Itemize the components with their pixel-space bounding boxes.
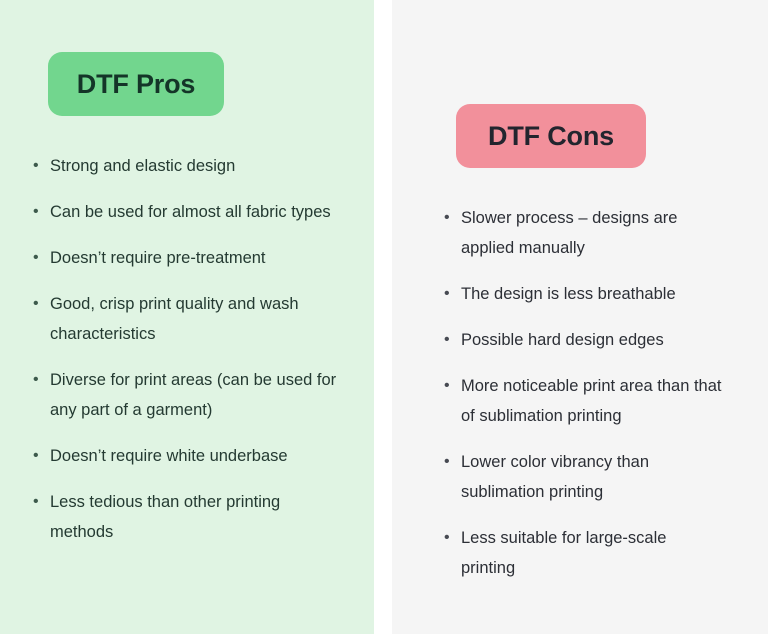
- pros-badge: DTF Pros: [48, 52, 224, 116]
- bullet-icon: •: [33, 441, 50, 471]
- list-item-label: Good, crisp print quality and wash chara…: [50, 289, 343, 349]
- bullet-icon: •: [33, 243, 50, 273]
- panel-divider: [374, 0, 392, 634]
- list-item: • Doesn’t require white underbase: [33, 441, 343, 471]
- bullet-icon: •: [33, 487, 50, 517]
- list-item-label: Possible hard design edges: [461, 325, 724, 355]
- list-item-label: Less suitable for large-scale printing: [461, 523, 724, 583]
- list-item: • Can be used for almost all fabric type…: [33, 197, 343, 227]
- pros-panel: DTF Pros • Strong and elastic design • C…: [0, 0, 374, 634]
- bullet-icon: •: [444, 203, 461, 233]
- cons-content: DTF Cons • Slower process – designs are …: [392, 52, 744, 583]
- bullet-icon: •: [33, 289, 50, 319]
- list-item: • More noticeable print area than that o…: [444, 371, 724, 431]
- list-item: • Doesn’t require pre-treatment: [33, 243, 343, 273]
- bullet-icon: •: [444, 279, 461, 309]
- list-item-label: Can be used for almost all fabric types: [50, 197, 343, 227]
- bullet-icon: •: [444, 325, 461, 355]
- list-item-label: The design is less breathable: [461, 279, 724, 309]
- cons-panel: DTF Cons • Slower process – designs are …: [392, 0, 768, 634]
- pros-bullet-list: • Strong and elastic design • Can be use…: [33, 151, 343, 547]
- list-item-label: Doesn’t require pre-treatment: [50, 243, 343, 273]
- list-item: • The design is less breathable: [444, 279, 724, 309]
- bullet-icon: •: [444, 447, 461, 477]
- cons-bullet-list: • Slower process – designs are applied m…: [444, 203, 724, 583]
- list-item-label: Diverse for print areas (can be used for…: [50, 365, 343, 425]
- list-item: • Lower color vibrancy than sublimation …: [444, 447, 724, 507]
- list-item: • Less suitable for large-scale printing: [444, 523, 724, 583]
- list-item: • Less tedious than other printing metho…: [33, 487, 343, 547]
- list-item-label: Doesn’t require white underbase: [50, 441, 343, 471]
- list-item: • Strong and elastic design: [33, 151, 343, 181]
- cons-badge: DTF Cons: [456, 104, 646, 168]
- list-item-label: Strong and elastic design: [50, 151, 343, 181]
- bullet-icon: •: [33, 197, 50, 227]
- list-item: • Possible hard design edges: [444, 325, 724, 355]
- list-item-label: Less tedious than other printing methods: [50, 487, 343, 547]
- list-item: • Diverse for print areas (can be used f…: [33, 365, 343, 425]
- bullet-icon: •: [33, 151, 50, 181]
- list-item-label: Slower process – designs are applied man…: [461, 203, 724, 263]
- bullet-icon: •: [444, 523, 461, 553]
- bullet-icon: •: [444, 371, 461, 401]
- list-item: • Good, crisp print quality and wash cha…: [33, 289, 343, 349]
- list-item-label: Lower color vibrancy than sublimation pr…: [461, 447, 724, 507]
- list-item-label: More noticeable print area than that of …: [461, 371, 724, 431]
- list-item: • Slower process – designs are applied m…: [444, 203, 724, 263]
- bullet-icon: •: [33, 365, 50, 395]
- pros-cons-comparison: DTF Pros • Strong and elastic design • C…: [0, 0, 768, 634]
